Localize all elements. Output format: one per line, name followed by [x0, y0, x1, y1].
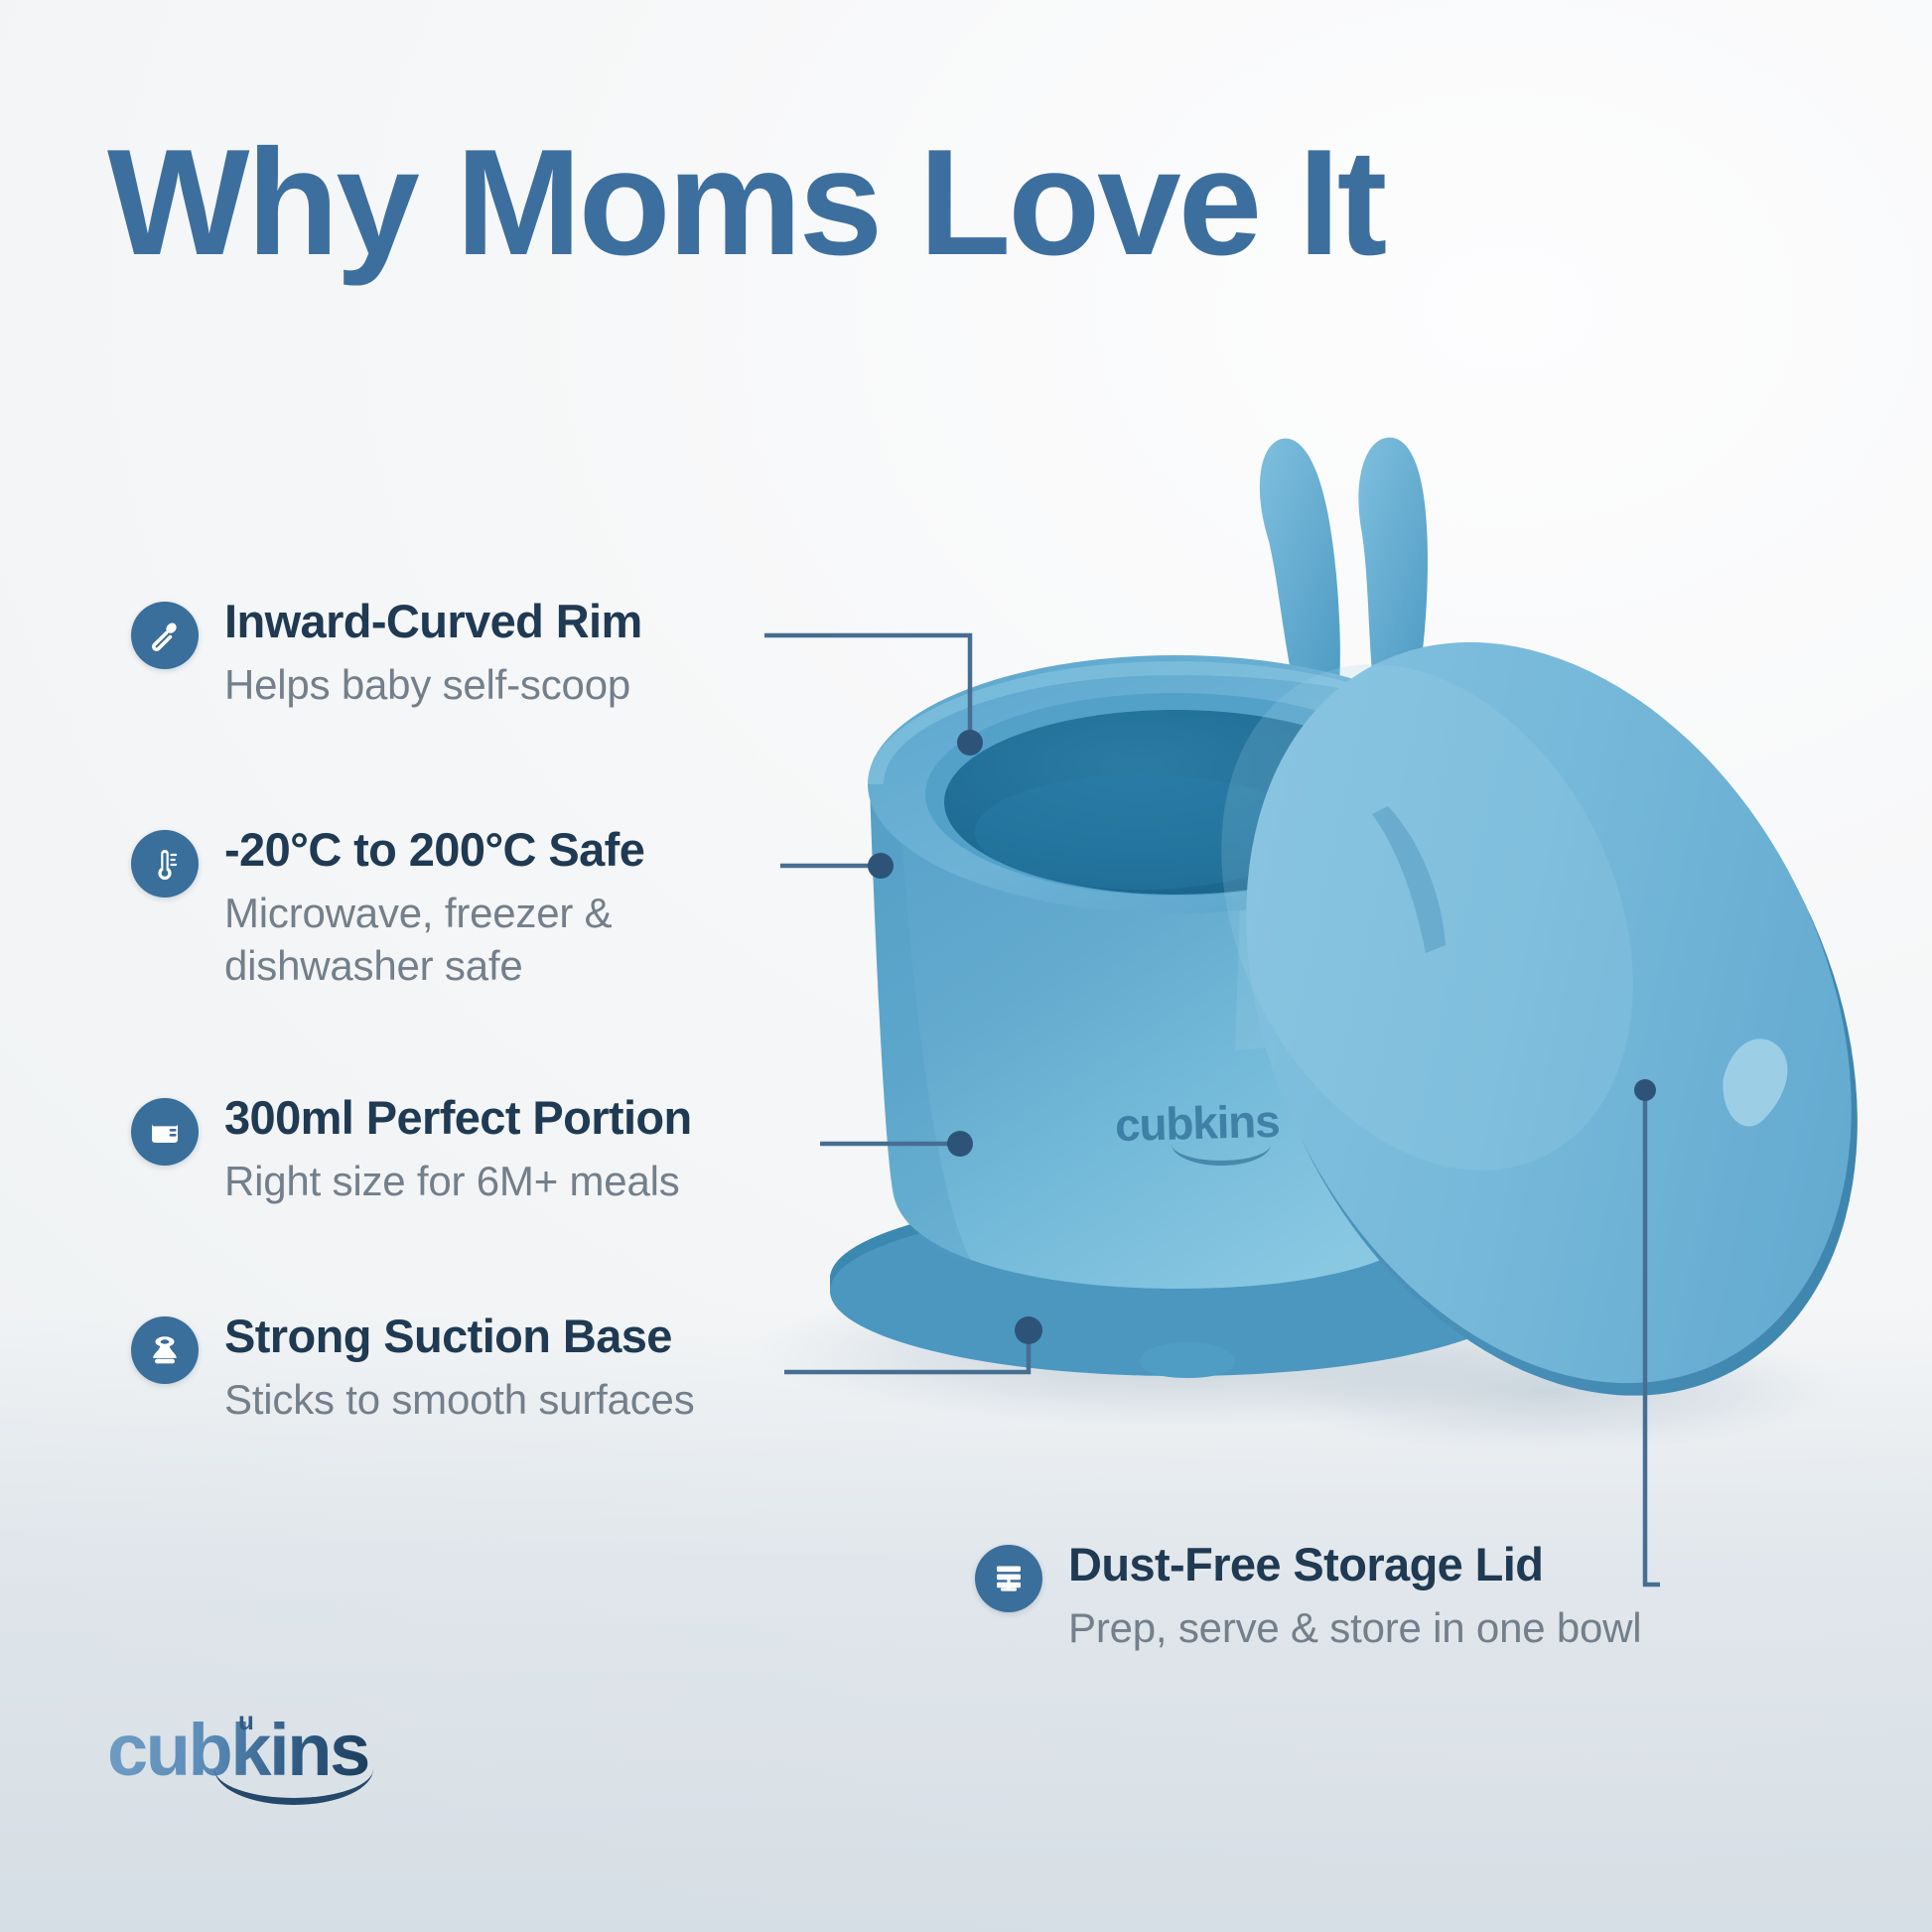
- page-title: Why Moms Love It: [107, 127, 1384, 278]
- brand-logo: cubkins u: [107, 1700, 405, 1811]
- feature-subtext: Prep, serve & store in one bowl: [1068, 1601, 1641, 1655]
- suction-cup-icon: [131, 1316, 199, 1384]
- feature-heading: Inward-Curved Rim: [224, 596, 642, 648]
- feature-item-storage-lid: Dust-Free Storage Lid Prep, serve & stor…: [975, 1539, 1641, 1654]
- feature-subtext: Microwave, freezer & dishwasher safe: [224, 887, 644, 994]
- thermometer-icon: [131, 830, 199, 897]
- feature-item-temperature-safe: -20°C to 200°C Safe Microwave, freezer &…: [131, 824, 644, 993]
- feature-heading: Dust-Free Storage Lid: [1068, 1539, 1641, 1591]
- feature-subtext: Right size for 6M+ meals: [224, 1155, 692, 1208]
- feature-item-perfect-portion: 300ml Perfect Portion Right size for 6M+…: [131, 1092, 692, 1207]
- feature-heading: Strong Suction Base: [224, 1311, 695, 1363]
- brand-smile-icon: [214, 1765, 373, 1805]
- feature-subtext: Sticks to smooth surfaces: [224, 1373, 695, 1427]
- feature-item-suction-base: Strong Suction Base Sticks to smooth sur…: [131, 1311, 695, 1426]
- stacked-lid-icon: [975, 1545, 1042, 1612]
- measuring-cup-icon: [131, 1098, 199, 1166]
- feature-subtext: Helps baby self-scoop: [224, 658, 642, 712]
- feature-item-inward-curved-rim: Inward-Curved Rim Helps baby self-scoop: [131, 596, 642, 711]
- feature-heading: -20°C to 200°C Safe: [224, 824, 644, 877]
- feature-heading: 300ml Perfect Portion: [224, 1092, 692, 1145]
- spoon-icon: [131, 602, 199, 669]
- brand-tick-mark: u: [238, 1706, 254, 1736]
